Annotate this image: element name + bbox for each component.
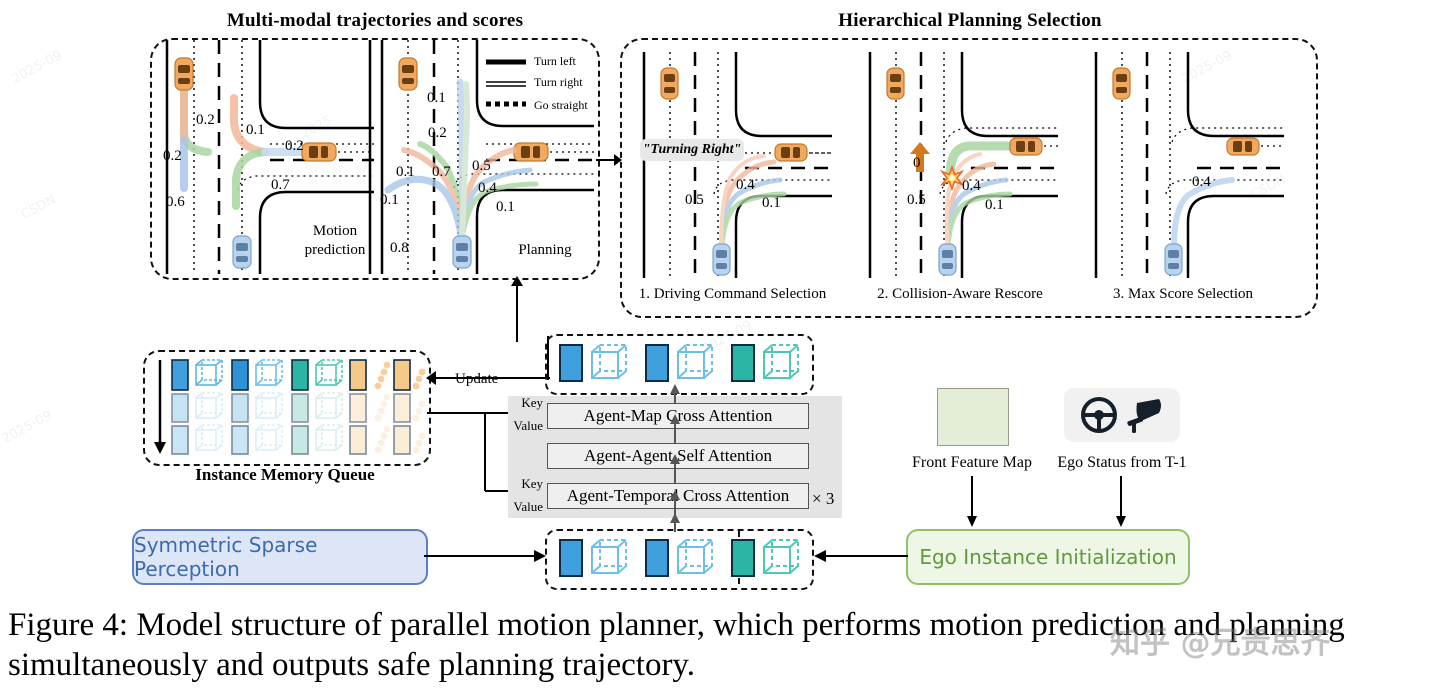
arrow-perception-to-instances [424,548,548,564]
bg-watermark: 2025-09 [10,48,65,87]
attention-flow-arrows [668,382,682,522]
score-label: 0.2 [285,138,304,155]
key-label-temporal: Key [505,477,543,492]
agent-car-orange-p1b [775,144,807,161]
front-feature-map-label: Front Feature Map [898,454,1046,472]
score-label: 0.1 [985,197,1004,214]
planning-label: Planning [505,242,585,259]
agent-car-orange-p2b [1010,138,1042,155]
motion-prediction-label: Motion prediction [300,222,370,260]
score-label: 0.4 [1192,174,1211,191]
ego-car-blue-2 [453,236,471,268]
arrow-ffm-to-ego-init [965,476,979,528]
arrow-input-to-attention [668,512,682,532]
symmetric-sparse-perception-label: Symmetric Sparse Perception [134,533,426,581]
score-label: 0.1 [762,195,781,212]
attention-repeat-label: × 3 [812,489,834,509]
bg-watermark: 2025-09 [0,408,55,447]
gas-pedal-icon [1123,395,1165,435]
score-label: 0.4 [962,178,981,195]
panel-caption-1: 1. Driving Command Selection [615,286,850,303]
score-label: 0.1 [246,122,265,139]
ego-instance-initialization-box[interactable]: Ego Instance Initialization [906,529,1190,585]
agent-car-orange-p3 [1113,68,1130,99]
ego-car-blue-p1 [713,244,730,275]
update-label: Update [455,371,498,388]
panel-caption-3: 3. Max Score Selection [1083,286,1283,303]
score-label: 0.4 [736,177,755,194]
symmetric-sparse-perception-box[interactable]: Symmetric Sparse Perception [132,529,428,585]
multimodal-panel-title: Multi-modal trajectories and scores [150,10,600,32]
score-label: 0.6 [166,194,185,211]
legend-label-turn-right: Turn right [534,75,583,90]
agent-car-orange-p3b [1227,138,1259,155]
ego-status-label: Ego Status from T-1 [1046,454,1198,472]
agent-car-orange [175,58,193,90]
bg-watermark: CSDN [19,192,59,223]
driving-command-tag: "Turning Right" [640,139,744,161]
ego-car-blue-p3 [1165,244,1182,275]
panel-caption-2: 2. Collision-Aware Rescore [845,286,1075,303]
output-instances [558,342,802,384]
collision-aware-rescore-scene [858,52,1058,278]
score-label: 0.2 [196,112,215,129]
agent-car-orange-4 [514,143,548,161]
arrow-to-hierarchical [596,150,622,170]
score-label: 0.8 [390,240,409,257]
value-label-map: Value [498,419,543,434]
score-label: 0.1 [496,199,515,216]
hierarchical-panel-title: Hierarchical Planning Selection [620,10,1320,32]
front-feature-map-thumbnail [937,388,1009,446]
figure-caption: Figure 4: Model structure of parallel mo… [8,605,1440,685]
ego-instance-initialization-label: Ego Instance Initialization [919,545,1176,569]
arrow-ego-to-instances [812,548,908,564]
max-score-selection-scene [1084,52,1284,278]
score-label: 0.2 [163,148,182,165]
score-label: 0.5 [685,192,704,209]
caption-line-1: Figure 4: Model structure of parallel mo… [8,607,1345,643]
arrow-ego-status-to-ego-init [1114,476,1128,528]
legend-label-turn-left: Turn left [534,54,576,69]
score-label: 0.1 [380,192,399,209]
value-label-temporal: Value [498,500,543,515]
ego-status-icon-box [1064,388,1180,442]
instance-memory-queue-label: Instance Memory Queue [143,465,427,485]
instance-memory-queue-content [150,356,422,456]
score-label: 0.7 [271,177,290,194]
score-label: 0.1 [396,164,415,181]
key-label-map: Key [505,396,543,411]
arrow-instances-to-multimodal [506,276,528,342]
driving-command-selection-scene [632,52,832,278]
legend-label-go-straight: Go straight [534,98,588,113]
score-label: 0 [913,155,921,172]
score-label: 0.1 [427,90,446,107]
agent-car-orange-p1 [661,68,678,99]
legend-lines [486,55,526,103]
input-instances [558,537,802,579]
steering-wheel-icon [1079,395,1119,435]
score-label: 0.2 [428,125,447,142]
score-label: 0.5 [907,192,926,209]
score-label: 0.4 [478,180,497,197]
agent-car-orange-2 [302,143,336,161]
agent-car-orange-3 [399,58,417,90]
caption-line-2: simultaneously and outputs safe planning… [8,647,695,683]
ego-car-blue-p2 [939,244,956,275]
score-label: 0.7 [432,164,451,181]
score-label: 0.5 [472,158,491,175]
ego-car-blue [233,236,251,268]
agent-car-orange-p2 [887,68,904,99]
